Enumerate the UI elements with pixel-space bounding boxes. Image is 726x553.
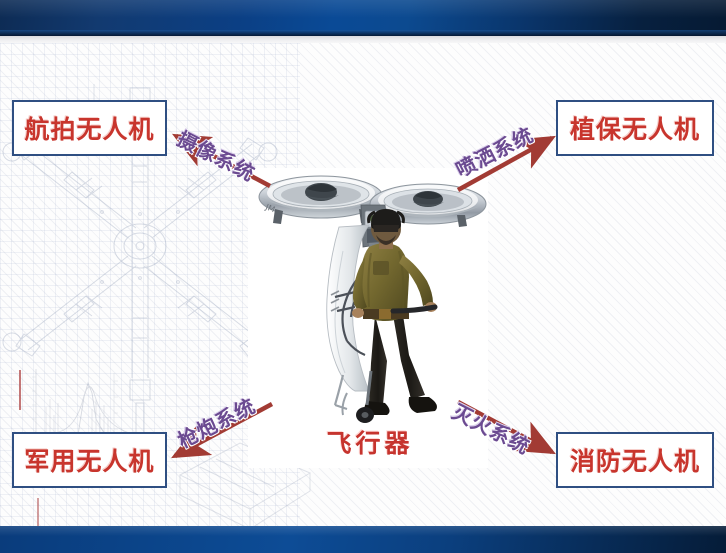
corner-box-military-drone[interactable]: 军用无人机 [12,432,167,488]
header-underline-strip [0,36,726,43]
blueprint-red-marker-2 [37,498,39,526]
corner-box-aerial-drone[interactable]: 航拍无人机 [12,100,167,156]
footer-band-gloss [0,526,726,536]
header-band [0,0,726,36]
corner-box-military-drone-label: 军用无人机 [24,442,154,478]
corner-box-plant-protection-drone-label: 植保无人机 [570,110,700,146]
corner-box-aerial-drone-label: 航拍无人机 [24,110,154,146]
aircraft-photo: JM [243,165,493,427]
corner-box-plant-protection-drone[interactable]: 植保无人机 [556,100,714,156]
header-band-gloss [0,0,726,18]
slide-root: JM [0,0,726,553]
center-caption-aircraft: 飞行器 [305,424,435,460]
corner-box-firefighting-drone-label: 消防无人机 [570,442,700,478]
blueprint-red-marker [19,370,21,410]
corner-box-firefighting-drone[interactable]: 消防无人机 [556,432,714,488]
